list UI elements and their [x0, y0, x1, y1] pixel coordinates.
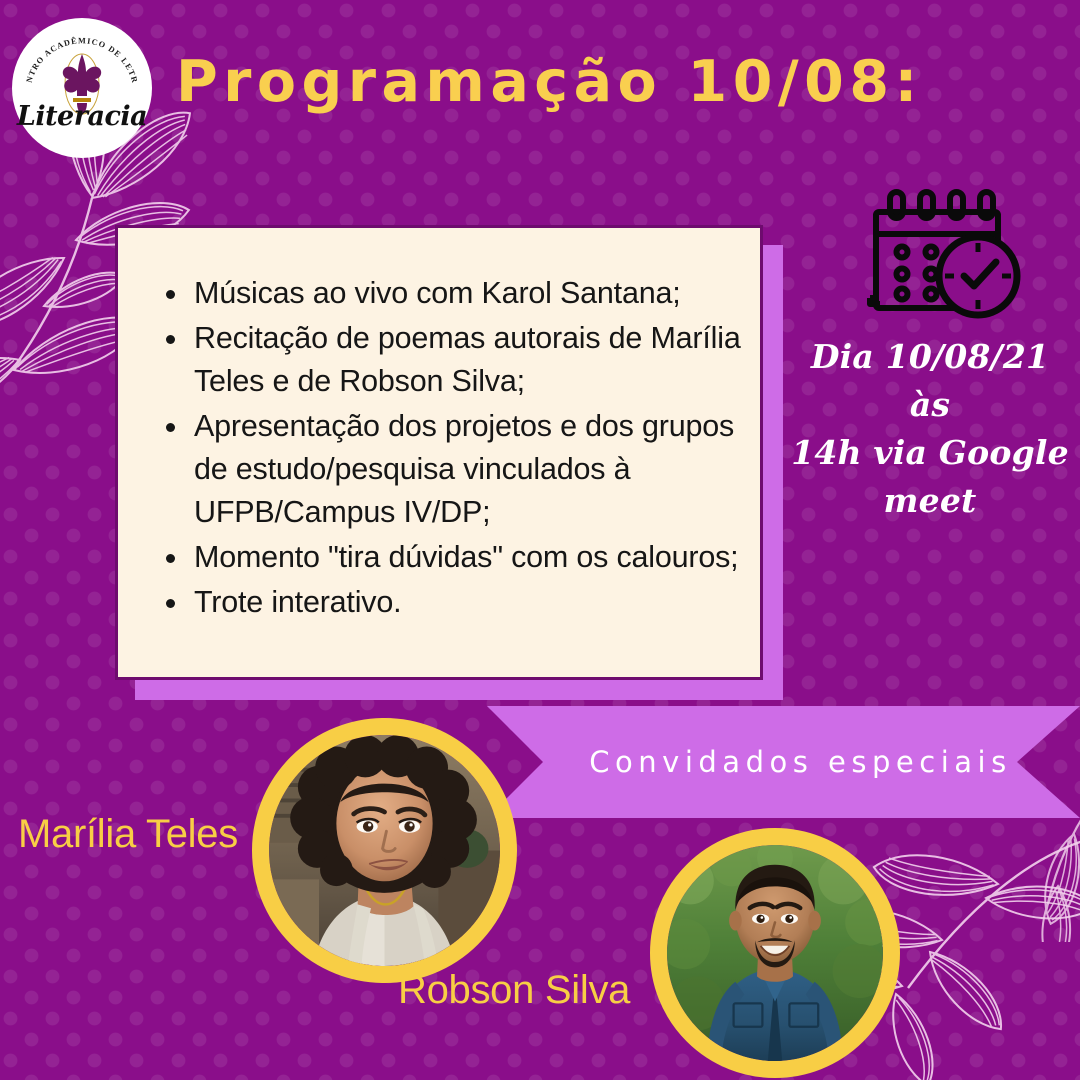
- list-item: Apresentação dos projetos e dos grupos d…: [164, 405, 744, 534]
- schedule-text: Dia 10/08/21 às 14h via Google meet: [790, 333, 1070, 525]
- program-card: Músicas ao vivo com Karol Santana; Recit…: [115, 225, 763, 680]
- guest-name-label: Marília Teles: [18, 812, 238, 857]
- guests-banner: Convidados especiais: [487, 706, 1080, 818]
- list-item: Recitação de poemas autorais de Marília …: [164, 317, 744, 403]
- literacia-logo: CENTRO ACADÊMICO DE LETRAS Literacia: [12, 18, 152, 158]
- avatar: [650, 828, 900, 1078]
- schedule-line-1: Dia 10/08/21 às: [790, 333, 1070, 429]
- guest-name-label: Robson Silva: [398, 968, 630, 1013]
- program-list: Músicas ao vivo com Karol Santana; Recit…: [118, 228, 760, 624]
- avatar-photo-robson-silva: [667, 845, 883, 1061]
- schedule-line-3: meet: [790, 477, 1070, 525]
- avatar: [252, 718, 517, 983]
- list-item: Trote interativo.: [164, 581, 744, 624]
- list-item: Músicas ao vivo com Karol Santana;: [164, 272, 744, 315]
- avatar-photo-marilia-teles: [269, 735, 500, 966]
- list-item: Momento "tira dúvidas" com os calouros;: [164, 536, 744, 579]
- guests-banner-label: Convidados especiais: [487, 706, 1080, 818]
- poster: CENTRO ACADÊMICO DE LETRAS Literacia Pro…: [0, 0, 1080, 1080]
- logo-wordmark: Literacia: [12, 101, 152, 132]
- schedule-line-2: 14h via Google: [790, 429, 1070, 477]
- calendar-clock-icon: [866, 186, 1026, 321]
- page-title: Programação 10/08:: [176, 42, 976, 122]
